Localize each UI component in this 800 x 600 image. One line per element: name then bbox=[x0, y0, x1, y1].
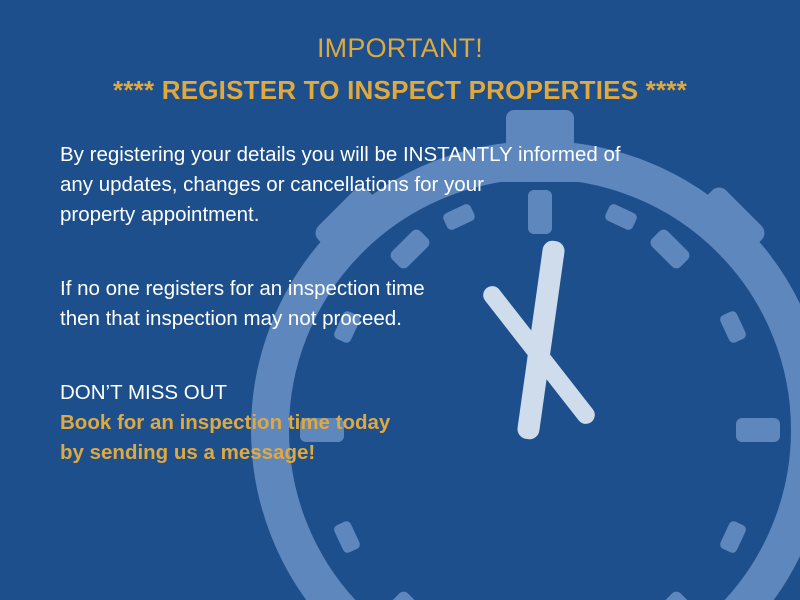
title-line-1: IMPORTANT! bbox=[0, 30, 800, 66]
body-block: By registering your details you will be … bbox=[60, 140, 720, 468]
call-to-action-text: Book for an inspection time today by sen… bbox=[60, 408, 720, 468]
title-line-2: **** REGISTER TO INSPECT PROPERTIES **** bbox=[0, 72, 800, 108]
title-block: IMPORTANT! **** REGISTER TO INSPECT PROP… bbox=[0, 0, 800, 108]
slide-canvas: IMPORTANT! **** REGISTER TO INSPECT PROP… bbox=[0, 0, 800, 600]
paragraph-registering-details: By registering your details you will be … bbox=[60, 140, 720, 230]
paragraph-dont-miss-out: DON’T MISS OUT bbox=[60, 378, 720, 408]
slide-content: IMPORTANT! **** REGISTER TO INSPECT PROP… bbox=[0, 0, 800, 600]
paragraph-no-registrations: If no one registers for an inspection ti… bbox=[60, 274, 720, 334]
